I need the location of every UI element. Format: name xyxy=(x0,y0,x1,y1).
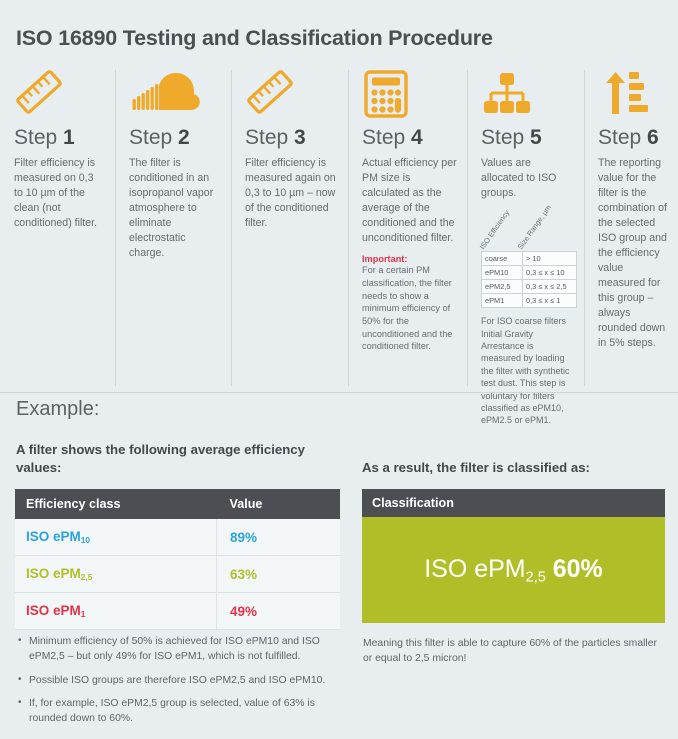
table-row: ISO ePM2,5 63% xyxy=(15,556,340,593)
iso-class-cell: coarse xyxy=(482,252,523,266)
step-heading-5: Step 5 xyxy=(481,126,574,150)
class-label: ISO ePM xyxy=(26,603,81,618)
infographic-page: ISO 16890 Testing and Classification Pro… xyxy=(0,0,678,739)
step-label-4: Step xyxy=(362,126,405,149)
table-row: coarse > 10 xyxy=(482,252,577,266)
step-number-5: 5 xyxy=(530,126,542,149)
example-lead-right: As a result, the filter is classified as… xyxy=(362,459,672,477)
hierarchy-icon xyxy=(481,68,574,124)
step-body-6: The reporting value for the filter is th… xyxy=(598,156,668,351)
calculator-icon xyxy=(362,68,457,124)
ruler-icon xyxy=(14,68,105,124)
list-item: If, for example, ISO ePM2,5 group is sel… xyxy=(18,697,344,727)
table-row: ePM1 0,3 ≤ x ≤ 1 xyxy=(482,294,577,308)
iso-range-cell: 0,3 ≤ x ≤ 2,5 xyxy=(523,280,577,294)
step-label-1: Step xyxy=(14,126,57,149)
important-label: Important: xyxy=(362,254,457,264)
step-column-2: Step 2 The filter is conditioned in an i… xyxy=(115,68,231,388)
classification-body: ISO ePM2,5 60% xyxy=(362,517,665,623)
step-number-1: 1 xyxy=(63,126,75,149)
list-item: Minimum efficiency of 50% is achieved fo… xyxy=(18,635,344,665)
iso-table-header-size-range: Size Range, µm xyxy=(516,203,553,251)
iso-range-cell: > 10 xyxy=(523,252,577,266)
step-body-1: Filter efficiency is measured on 0,3 to … xyxy=(14,156,105,231)
iso-groups-table: coarse > 10 ePM10 0,3 ≤ x ≤ 10 ePM2,5 0,… xyxy=(481,251,577,308)
class-label: ISO ePM xyxy=(26,566,81,581)
example-lead-left: A filter shows the following average eff… xyxy=(16,441,316,476)
step-number-3: 3 xyxy=(294,126,306,149)
efficiency-value-cell: 89% xyxy=(217,519,341,556)
list-item: Possible ISO groups are therefore ISO eP… xyxy=(18,674,344,689)
classification-prefix: ISO ePM xyxy=(424,555,525,583)
step-label-3: Step xyxy=(245,126,288,149)
step-body-2: The filter is conditioned in an isopropa… xyxy=(129,156,221,261)
step-heading-4: Step 4 xyxy=(362,126,457,150)
classification-header: Classification xyxy=(362,489,665,517)
step-label-2: Step xyxy=(129,126,172,149)
table-row: ISO ePM10 89% xyxy=(15,519,340,556)
table-row: ePM10 0,3 ≤ x ≤ 10 xyxy=(482,266,577,280)
example-heading: Example: xyxy=(16,398,99,421)
column-header-value: Value xyxy=(217,489,341,519)
efficiency-value-cell: 49% xyxy=(217,593,341,630)
efficiency-value-cell: 63% xyxy=(217,556,341,593)
ruler-icon xyxy=(245,68,338,124)
efficiency-class-cell: ISO ePM10 xyxy=(15,519,217,556)
step-column-6: Step 6 The reporting value for the filte… xyxy=(584,68,678,388)
step-body-5: Values are allocated to ISO groups. xyxy=(481,156,574,201)
iso-table-header-efficiency: ISO Efficiency xyxy=(478,208,512,251)
table-row: ePM2,5 0,3 ≤ x ≤ 2,5 xyxy=(482,280,577,294)
step-column-4: Step 4 Actual efficiency per PM size is … xyxy=(348,68,467,388)
step-heading-3: Step 3 xyxy=(245,126,338,150)
step-heading-2: Step 2 xyxy=(129,126,221,150)
step-number-2: 2 xyxy=(178,126,190,149)
column-header-efficiency-class: Efficiency class xyxy=(15,489,217,519)
class-subscript: 10 xyxy=(81,535,90,545)
class-subscript: 2,5 xyxy=(81,572,93,582)
iso-range-cell: 0,3 ≤ x ≤ 10 xyxy=(523,266,577,280)
classification-box: Classification ISO ePM2,5 60% xyxy=(362,489,665,623)
report-arrow-icon xyxy=(598,68,668,124)
iso-class-cell: ePM2,5 xyxy=(482,280,523,294)
steps-strip: Step 1 Filter efficiency is measured on … xyxy=(0,68,678,388)
table-header-row: Efficiency class Value xyxy=(15,489,340,519)
step-heading-6: Step 6 xyxy=(598,126,668,150)
step-body-3: Filter efficiency is measured again on 0… xyxy=(245,156,338,231)
efficiency-class-cell: ISO ePM2,5 xyxy=(15,556,217,593)
efficiency-class-cell: ISO ePM1 xyxy=(15,593,217,630)
iso-class-cell: ePM1 xyxy=(482,294,523,308)
step-column-1: Step 1 Filter efficiency is measured on … xyxy=(0,68,115,388)
classification-result: ISO ePM2,5 60% xyxy=(424,555,603,585)
table-row: ISO ePM1 49% xyxy=(15,593,340,630)
step-body-4: Actual efficiency per PM size is calcula… xyxy=(362,156,457,246)
iso-table-rotated-headers: ISO Efficiency Size Range, µm xyxy=(481,207,574,251)
iso-class-cell: ePM10 xyxy=(482,266,523,280)
step-label-6: Step xyxy=(598,126,641,149)
step5-note: For ISO coarse filters Initial Gravity A… xyxy=(481,315,574,427)
important-text: For a certain PM classification, the fil… xyxy=(362,264,457,353)
class-subscript: 1 xyxy=(81,609,86,619)
cloud-icon xyxy=(129,68,221,124)
step-heading-1: Step 1 xyxy=(14,126,105,150)
iso-range-cell: 0,3 ≤ x ≤ 1 xyxy=(523,294,577,308)
step-column-5: Step 5 Values are allocated to ISO group… xyxy=(467,68,584,388)
step-column-3: Step 3 Filter efficiency is measured aga… xyxy=(231,68,348,388)
efficiency-values-table: Efficiency class Value ISO ePM10 89% ISO… xyxy=(15,489,340,630)
page-title: ISO 16890 Testing and Classification Pro… xyxy=(16,26,493,51)
example-bullet-list: Minimum efficiency of 50% is achieved fo… xyxy=(18,635,344,736)
closing-note: Meaning this filter is able to capture 6… xyxy=(363,637,663,667)
step-number-6: 6 xyxy=(647,126,659,149)
class-label: ISO ePM xyxy=(26,529,81,544)
step-number-4: 4 xyxy=(411,126,423,149)
section-divider xyxy=(0,392,678,393)
classification-value: 60% xyxy=(553,555,603,583)
iso-groups-table-wrap: ISO Efficiency Size Range, µm coarse > 1… xyxy=(481,207,574,308)
classification-subscript: 2,5 xyxy=(526,569,546,585)
step-label-5: Step xyxy=(481,126,524,149)
